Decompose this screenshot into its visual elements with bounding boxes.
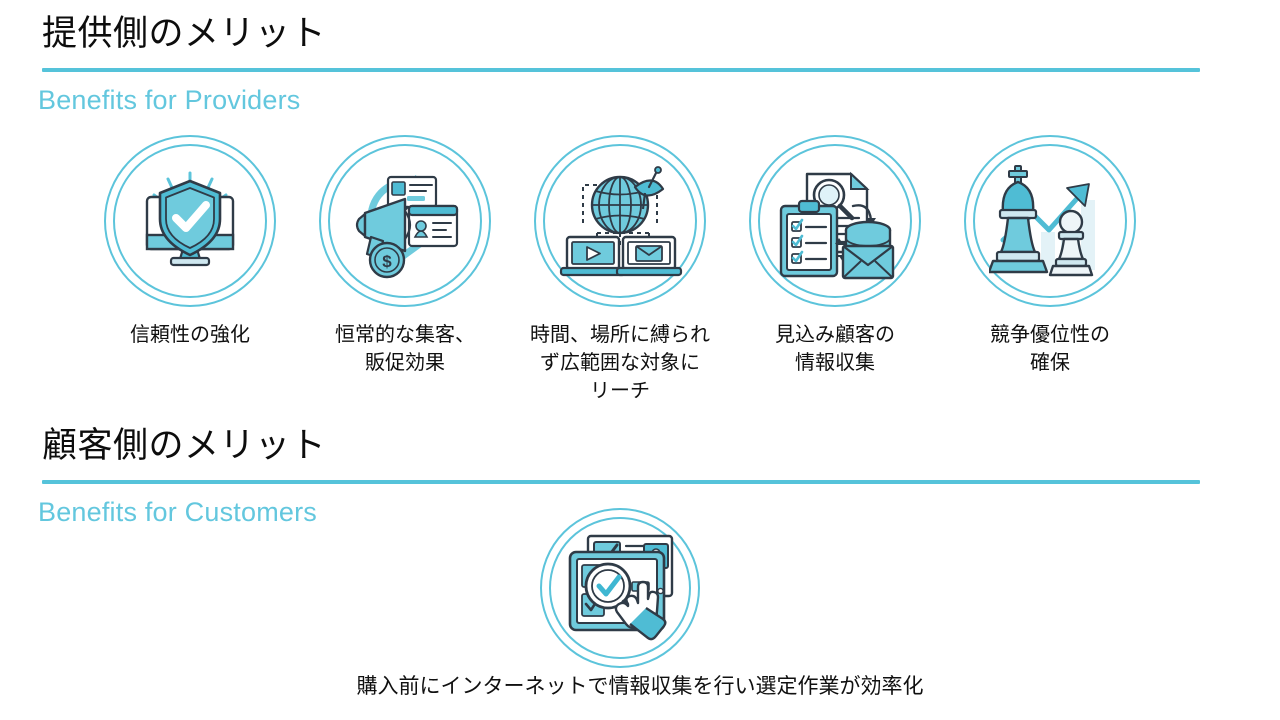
shield-check-monitor-icon	[104, 135, 276, 307]
customer-benefit-card-1[interactable]	[527, 508, 713, 668]
benefit-card-1[interactable]: 信頼性の強化	[97, 135, 283, 349]
section-subtitle-customers: Benefits for Customers	[38, 496, 317, 528]
section-title-providers: 提供側のメリット	[42, 14, 326, 54]
section-divider-providers	[42, 68, 1200, 72]
benefit-caption-2: 恒常的な集客、 販促効果	[312, 321, 498, 377]
section-divider-customers	[42, 480, 1200, 484]
section-title-customers: 顧客側のメリット	[42, 426, 326, 466]
chess-growth-icon	[964, 135, 1136, 307]
benefit-caption-5: 競争優位性の 確保	[957, 321, 1143, 377]
benefit-card-4[interactable]: 見込み顧客の 情報収集	[742, 135, 928, 377]
customer-benefit-caption-1: 購入前にインターネットで情報収集を行い選定作業が効率化	[0, 672, 1280, 702]
section-subtitle-providers: Benefits for Providers	[38, 84, 301, 116]
globe-network-reach-icon	[534, 135, 706, 307]
svg-text:$: $	[382, 252, 392, 271]
tablet-search-select-icon	[540, 508, 700, 668]
clipboard-data-collection-icon	[749, 135, 921, 307]
benefit-card-2[interactable]: $ 恒常的な集客、 販促効果	[312, 135, 498, 377]
benefit-caption-3: 時間、場所に縛られ ず広範囲な対象に リーチ	[527, 321, 713, 405]
benefit-card-5[interactable]: 競争優位性の 確保	[957, 135, 1143, 377]
megaphone-marketing-icon: $	[319, 135, 491, 307]
benefit-caption-4: 見込み顧客の 情報収集	[742, 321, 928, 377]
benefit-caption-1: 信頼性の強化	[97, 321, 283, 349]
benefit-card-3[interactable]: 時間、場所に縛られ ず広範囲な対象に リーチ	[527, 135, 713, 405]
